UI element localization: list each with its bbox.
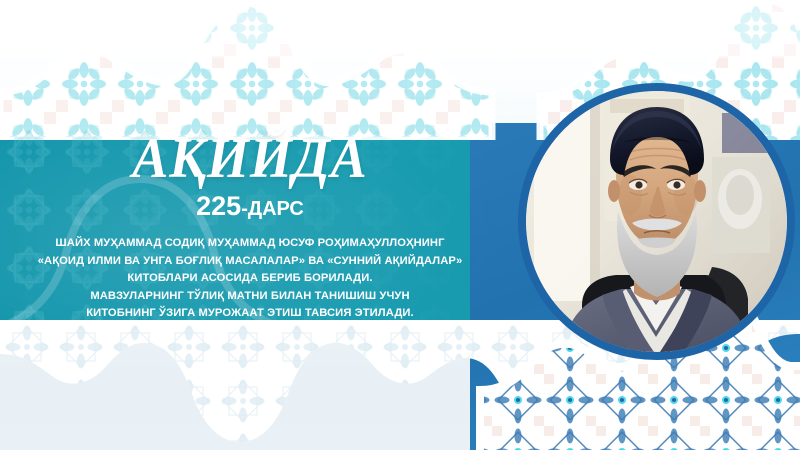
poster-canvas: АҚИЙДА 225-ДАРС ШАЙХ МУҲАММАД СОДИҚ МУҲА… [0,0,800,450]
description-line-1: ШАЙХ МУҲАММАД СОДИҚ МУҲАММАД ЮСУФ РОҲИМА… [10,235,490,253]
description-line-5: КИТОБНИНГ ЎЗИГА МУРОЖААТ ЭТИШ ТАВСИЯ ЭТИ… [10,305,490,323]
portrait-photo [526,91,787,352]
description-line-2: «АҚОИД ИЛМИ ВА УНГА БОҒЛИҚ МАСАЛАЛАР» ВА… [10,253,490,271]
lesson-label: 225-ДАРС [196,191,304,226]
description-line-3: КИТОБЛАРИ АСОСИДА БЕРИБ БОРИЛАДИ. [10,270,490,288]
description-text: ШАЙХ МУҲАММАД СОДИҚ МУҲАММАД ЮСУФ РОҲИМА… [10,235,490,323]
page-title: АҚИЙДА [132,127,368,188]
lesson-number: 225 [196,191,241,221]
portrait-illustration [526,91,787,352]
lesson-suffix: -ДАРС [241,198,304,220]
avatar [518,83,795,360]
description-line-4: МАВЗУЛАРНИНГ ТЎЛИҚ МАТНИ БИЛАН ТАНИШИШ У… [10,288,490,306]
poster-text-block: АҚИЙДА 225-ДАРС ШАЙХ МУҲАММАД СОДИҚ МУҲА… [0,123,500,333]
